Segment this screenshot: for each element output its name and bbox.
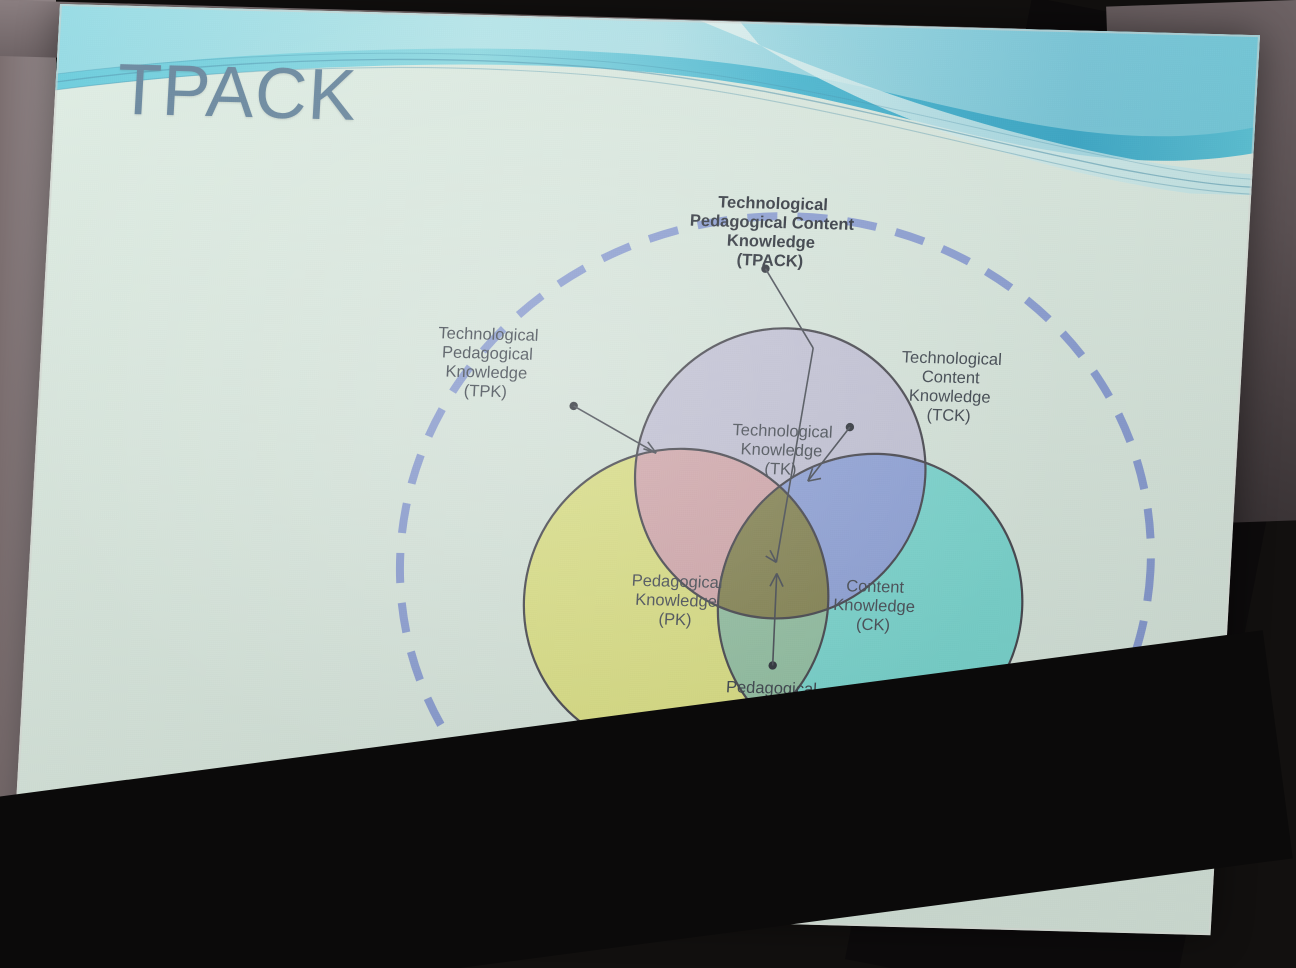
label-tpk: Technological Pedagogical Knowledge (TPK… [397, 323, 577, 404]
label-pk: Pedagogical Knowledge (PK) [586, 571, 765, 633]
slide-title: TPACK [115, 54, 359, 132]
label-tk: Technological Knowledge (TK) [690, 420, 873, 482]
label-tpack: Technological Pedagogical Content Knowle… [604, 191, 938, 276]
label-ck: Content Knowledge (CK) [784, 576, 963, 638]
photo-of-projected-slide: TPACK [0, 0, 1296, 968]
label-tck: Technological Content Knowledge (TCK) [860, 347, 1040, 428]
